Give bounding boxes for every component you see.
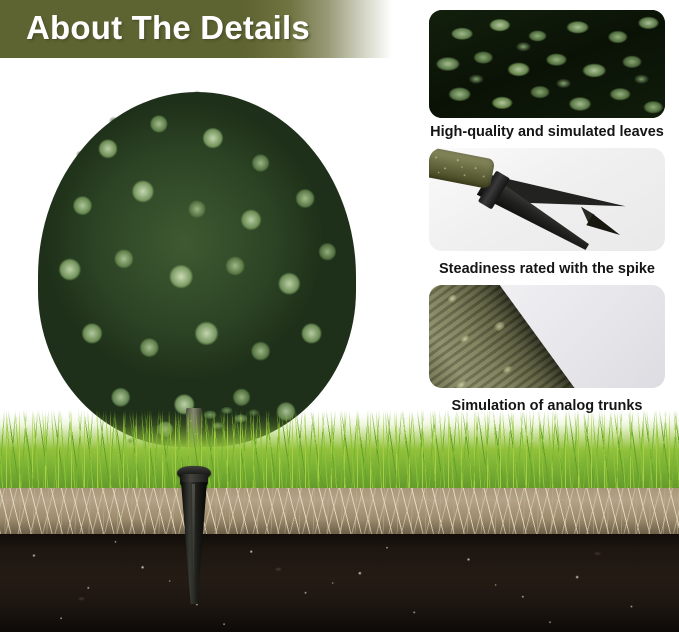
detail-panel-spike xyxy=(429,148,665,251)
soil-particles-texture xyxy=(0,534,679,632)
caption-bark: Simulation of analog trunks xyxy=(429,398,665,414)
detail-panel-leaves xyxy=(429,10,665,118)
grass-blades-texture xyxy=(0,410,679,500)
caption-spike: Steadiness rated with the spike xyxy=(429,261,665,277)
spike-trunk-stub xyxy=(429,148,495,189)
leaf-closeup-image xyxy=(429,10,665,118)
topiary-canopy xyxy=(38,92,356,447)
product-detail-image: About The Details High-quality and simul… xyxy=(0,0,679,632)
detail-panel-bark xyxy=(429,285,665,388)
caption-leaves: High-quality and simulated leaves xyxy=(429,124,665,140)
section-header-banner: About The Details xyxy=(0,0,392,58)
page-title: About The Details xyxy=(26,9,310,47)
bark-texture-image xyxy=(429,285,601,388)
